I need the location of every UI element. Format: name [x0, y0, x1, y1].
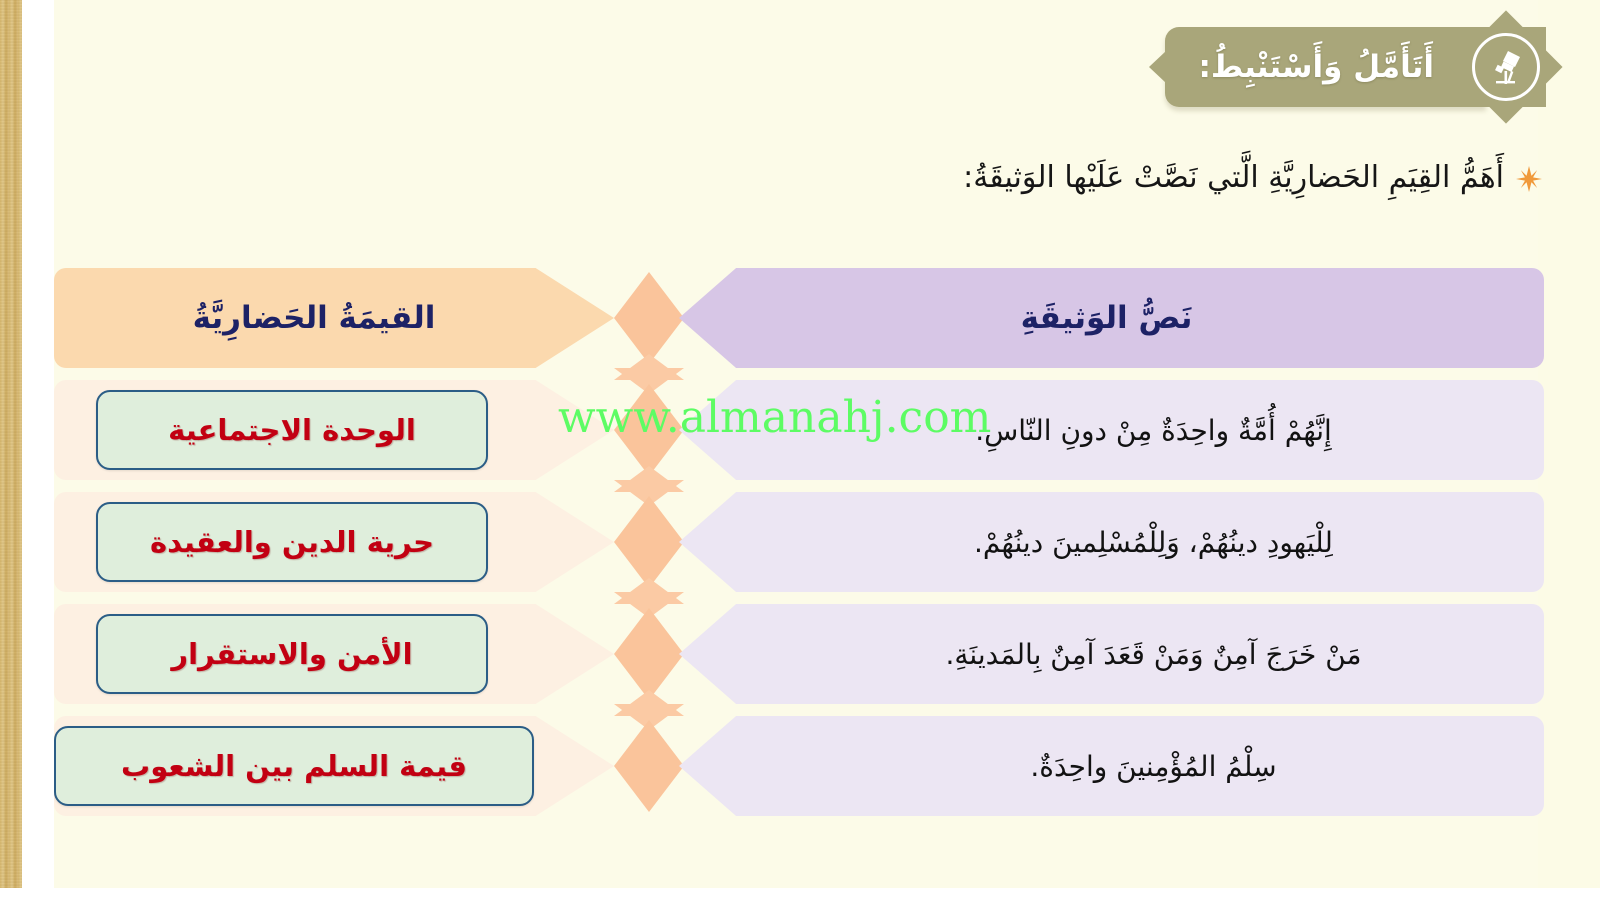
- header-value-band: القيمَةُ الحَضارِيَّةُ: [54, 268, 614, 368]
- badge-circle: [1472, 33, 1540, 101]
- row-text-band: إِنَّهُمْ أُمَّةٌ واحِدَةٌ مِنْ دونِ الن…: [679, 380, 1544, 480]
- value-chip: حرية الدين والعقيدة: [96, 502, 488, 582]
- row-divider-diamond: [614, 720, 684, 812]
- value-chip-label: الأمن والاستقرار: [157, 637, 426, 671]
- worksheet-page: أَتَأَمَّلُ وَأَسْتَنْبِطُ: أَهَمُّ القِ…: [0, 0, 1600, 900]
- table-row: الأمن والاستقرار مَنْ خَرَجَ آمِنٌ وَمَن…: [54, 604, 1544, 704]
- section-banner: أَتَأَمَّلُ وَأَسْتَنْبِطُ:: [1165, 8, 1561, 126]
- row-text-band: سِلْمُ المُؤْمِنينَ واحِدَةٌ.: [679, 716, 1544, 816]
- document-text: مَنْ خَرَجَ آمِنٌ وَمَنْ قَعَدَ آمِنٌ بِ…: [679, 638, 1544, 671]
- instruction-line: أَهَمُّ القِيَمِ الحَضارِيَّةِ الَّتي نَ…: [62, 160, 1542, 195]
- row-text-band: مَنْ خَرَجَ آمِنٌ وَمَنْ قَعَدَ آمِنٌ بِ…: [679, 604, 1544, 704]
- left-decorative-strip: [0, 0, 22, 900]
- table-row: الوحدة الاجتماعية إِنَّهُمْ أُمَّةٌ واحِ…: [54, 380, 1544, 480]
- document-text: إِنَّهُمْ أُمَّةٌ واحِدَةٌ مِنْ دونِ الن…: [679, 414, 1544, 447]
- row-value-band: الأمن والاستقرار: [54, 604, 614, 704]
- value-chip-label: حرية الدين والعقيدة: [136, 525, 448, 559]
- table-row: حرية الدين والعقيدة لِلْيَهودِ دينُهُمْ،…: [54, 492, 1544, 592]
- row-value-band: الوحدة الاجتماعية: [54, 380, 614, 480]
- banner-title: أَتَأَمَّلُ وَأَسْتَنْبِطُ:: [1199, 49, 1435, 85]
- value-chip-label: الوحدة الاجتماعية: [154, 413, 430, 447]
- banner-plate: أَتَأَمَّلُ وَأَسْتَنْبِطُ:: [1165, 27, 1487, 107]
- right-margin: [1538, 0, 1600, 900]
- left-white-margin: [22, 0, 54, 900]
- bottom-white-margin: [0, 888, 1600, 900]
- value-chip: الوحدة الاجتماعية: [96, 390, 488, 470]
- header-text-band: نَصُّ الوَثيقَةِ: [679, 268, 1544, 368]
- instruction-text: أَهَمُّ القِيَمِ الحَضارِيَّةِ الَّتي نَ…: [963, 160, 1504, 195]
- row-value-band: حرية الدين والعقيدة: [54, 492, 614, 592]
- document-text: لِلْيَهودِ دينُهُمْ، وَلِلْمُسْلِمينَ دي…: [679, 526, 1544, 559]
- telescope-icon: [1484, 45, 1528, 89]
- value-chip: الأمن والاستقرار: [96, 614, 488, 694]
- row-divider-diamond: [614, 608, 684, 700]
- banner-badge: [1452, 13, 1560, 121]
- row-text-band: لِلْيَهودِ دينُهُمْ، وَلِلْمُسْلِمينَ دي…: [679, 492, 1544, 592]
- header-text-label: نَصُّ الوَثيقَةِ: [729, 300, 1544, 336]
- values-table: القيمَةُ الحَضارِيَّةُ نَصُّ الوَثيقَةِ …: [54, 268, 1544, 828]
- table-header-row: القيمَةُ الحَضارِيَّةُ نَصُّ الوَثيقَةِ: [54, 268, 1544, 368]
- table-row: قيمة السلم بين الشعوب سِلْمُ المُؤْمِنين…: [54, 716, 1544, 816]
- row-divider-diamond: [614, 272, 684, 364]
- row-divider-diamond: [614, 384, 684, 476]
- document-text: سِلْمُ المُؤْمِنينَ واحِدَةٌ.: [679, 750, 1544, 783]
- row-divider-diamond: [614, 496, 684, 588]
- value-chip: قيمة السلم بين الشعوب: [54, 726, 534, 806]
- eight-point-star-icon: [1516, 166, 1542, 192]
- value-chip-label: قيمة السلم بين الشعوب: [107, 749, 481, 783]
- row-value-band: قيمة السلم بين الشعوب: [54, 716, 614, 816]
- header-value-label: القيمَةُ الحَضارِيَّةُ: [54, 300, 614, 336]
